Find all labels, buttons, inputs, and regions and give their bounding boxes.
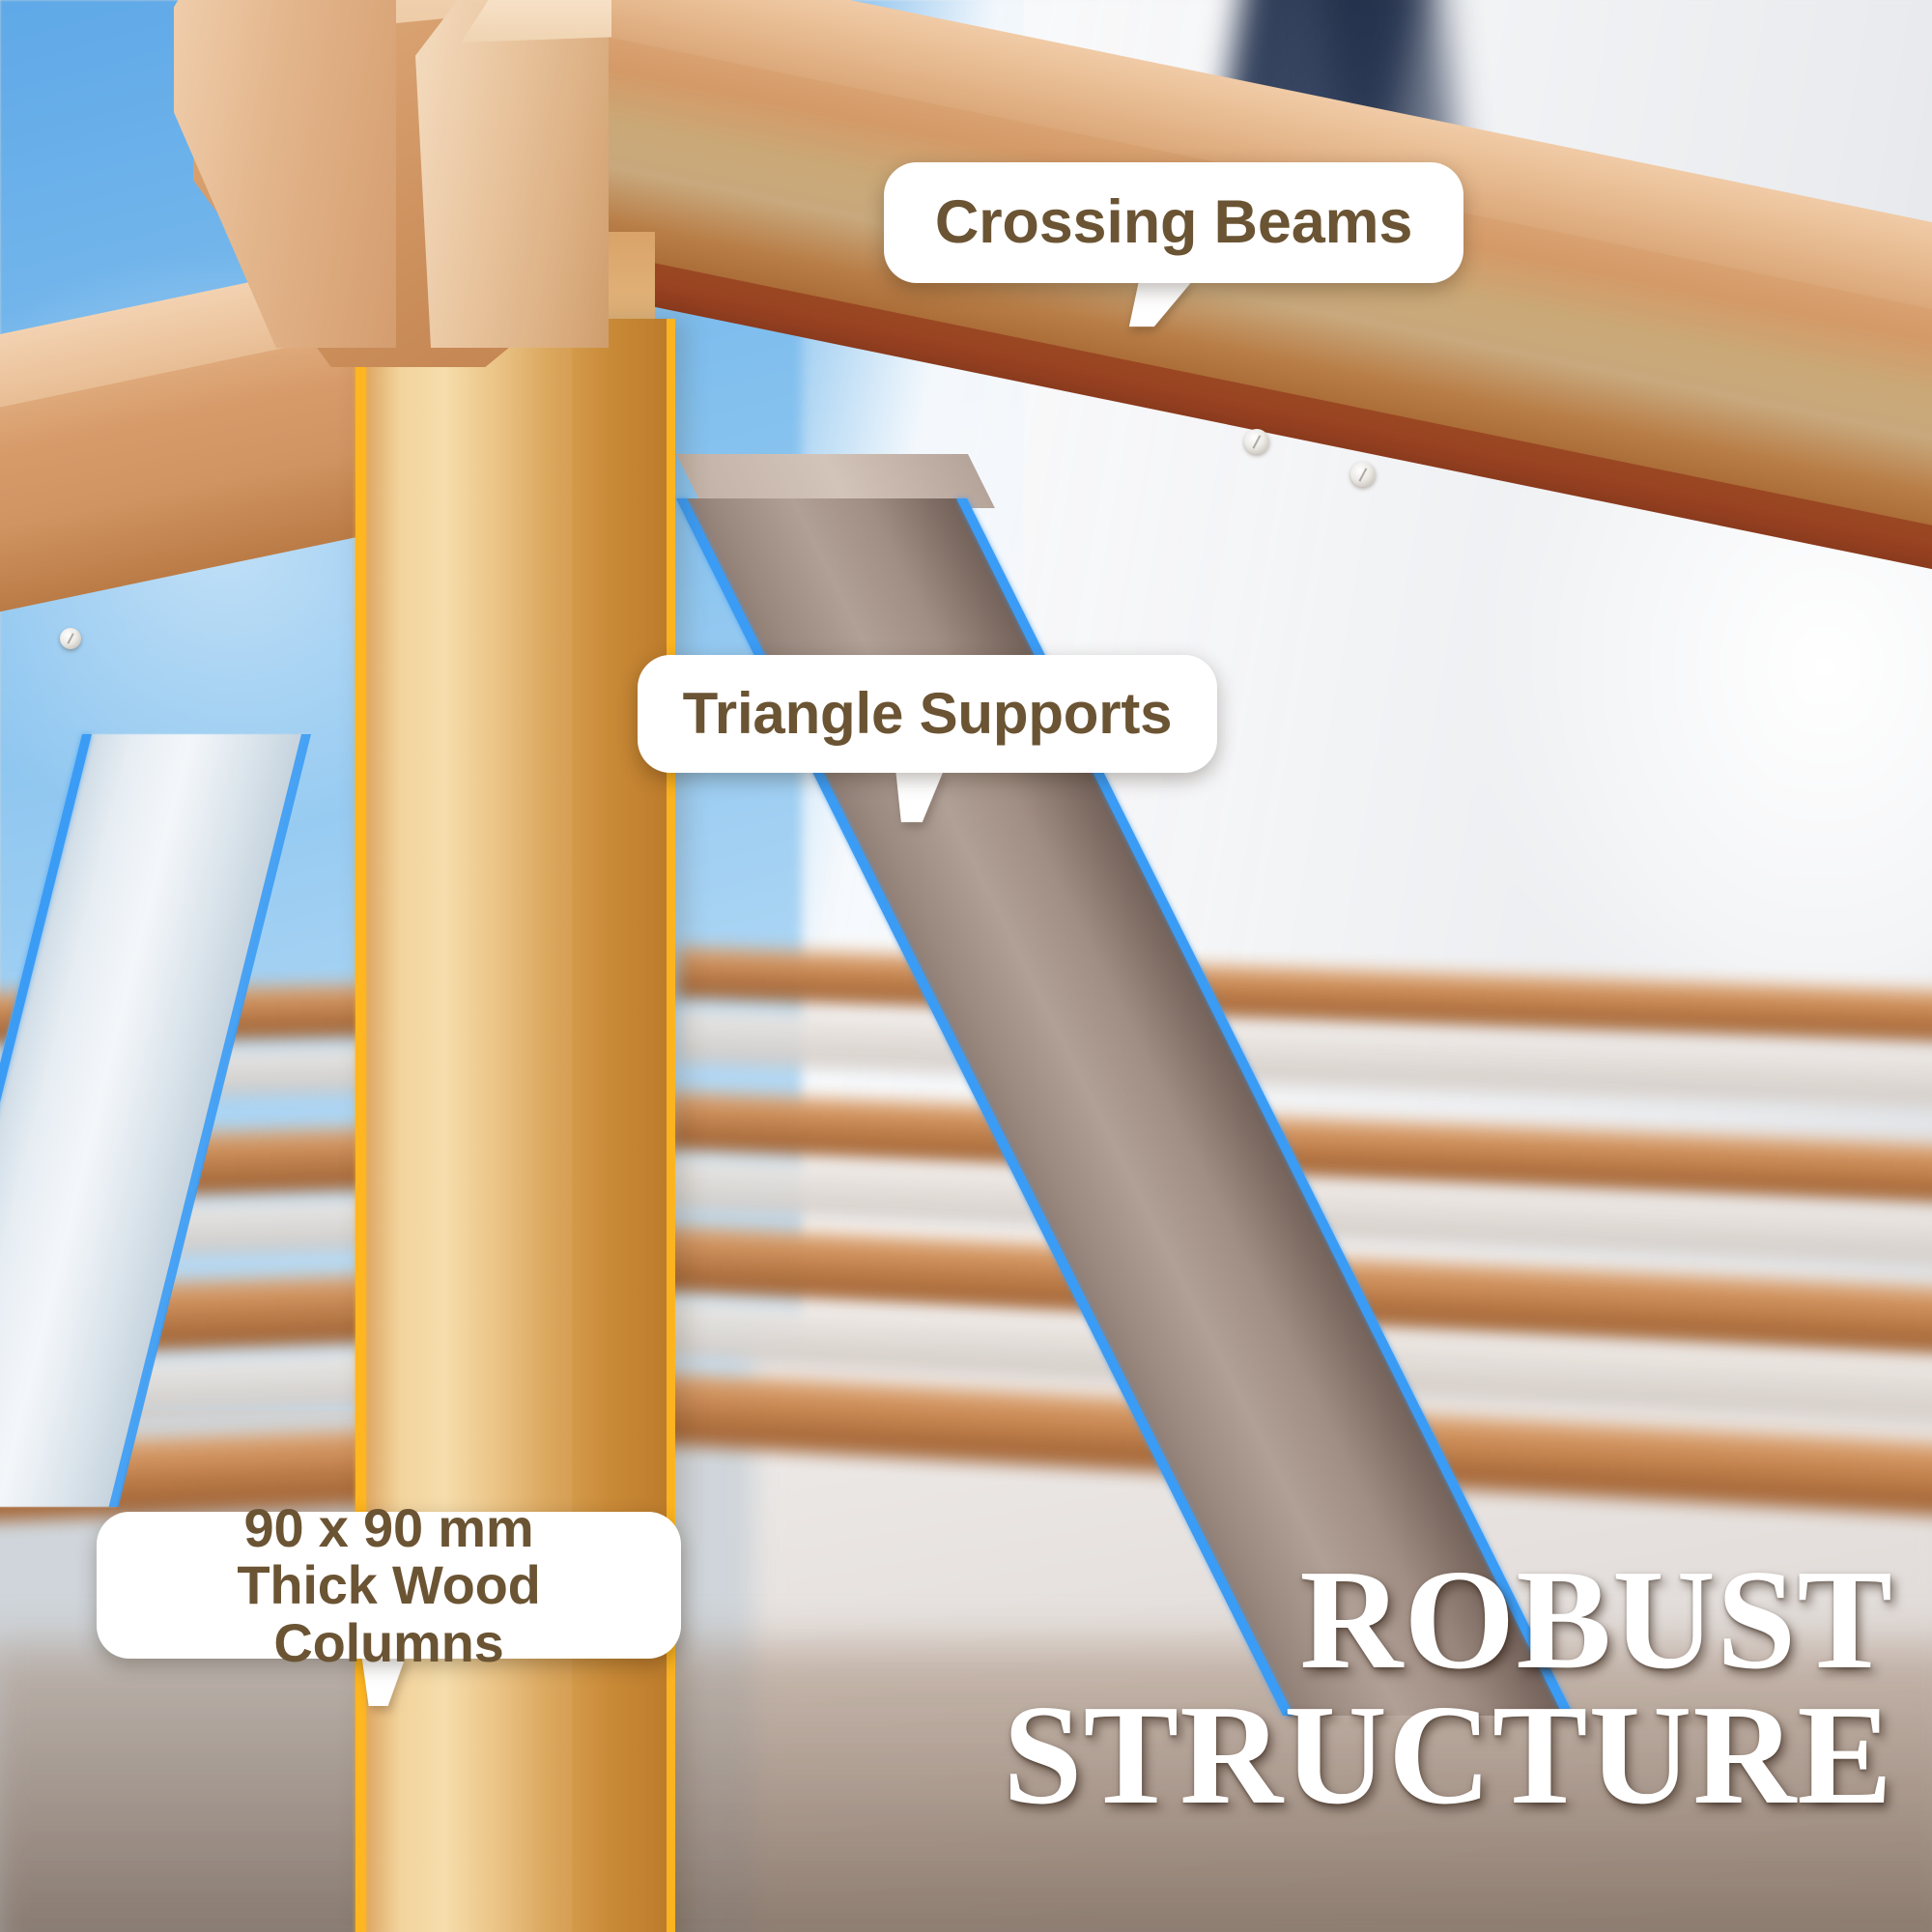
callout-triangle-supports-label: Triangle Supports: [683, 683, 1173, 745]
headline: ROBUST STRUCTURE: [1003, 1552, 1893, 1824]
callout-wood-columns-text: 90 x 90 mm Thick Wood Columns: [126, 1499, 652, 1671]
wood-column-side-face: [572, 319, 668, 1932]
wood-column-outline: [667, 319, 675, 1932]
headline-line-2: STRUCTURE: [1003, 1688, 1893, 1824]
callout-tail-crossing-beams: [1129, 280, 1193, 327]
callout-crossing-beams[interactable]: Crossing Beams: [884, 162, 1463, 283]
wood-column-outline: [355, 319, 366, 1932]
product-feature-image: Crossing Beams Triangle Supports 90 x 90…: [0, 0, 1932, 1932]
screw-head: [1350, 462, 1376, 487]
screw-head: [1244, 429, 1269, 454]
callout-wood-columns-line2: Thick Wood Columns: [126, 1556, 652, 1671]
callout-wood-columns[interactable]: 90 x 90 mm Thick Wood Columns: [97, 1512, 681, 1659]
callout-wood-columns-line1: 90 x 90 mm: [126, 1499, 652, 1556]
callout-triangle-supports[interactable]: Triangle Supports: [638, 655, 1217, 773]
callout-tail-triangle-supports: [895, 770, 950, 822]
callout-crossing-beams-label: Crossing Beams: [935, 190, 1412, 255]
post-cap-block: [415, 0, 609, 348]
headline-line-1: ROBUST: [1003, 1552, 1893, 1689]
screw-head: [60, 628, 81, 649]
